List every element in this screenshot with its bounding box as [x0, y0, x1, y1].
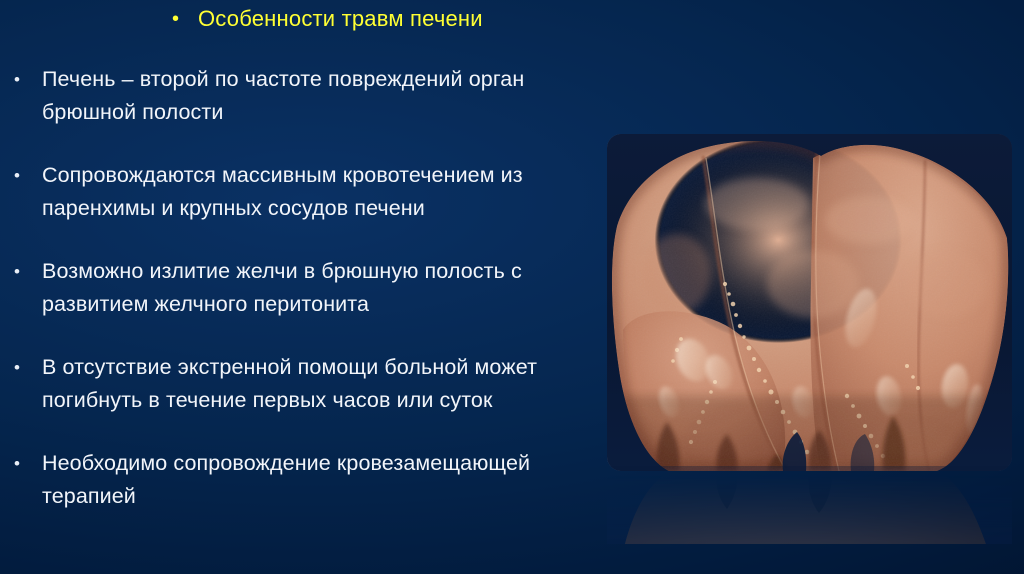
- slide-title: • Особенности травм печени: [168, 4, 483, 34]
- list-item-text: В отсутствие экстренной помощи больной м…: [42, 351, 590, 417]
- reflection-illustration: [607, 472, 1012, 544]
- picture-reflection: [607, 472, 1012, 544]
- title-text: Особенности травм печени: [198, 4, 483, 34]
- liver-illustration: [607, 134, 1012, 471]
- list-item: • Возможно излитие желчи в брюшную полос…: [8, 255, 594, 321]
- list-item-text: Возможно излитие желчи в брюшную полость…: [42, 255, 590, 321]
- bullet-point-icon: •: [8, 63, 42, 96]
- bullet-point-icon: •: [8, 159, 42, 192]
- list-item: • Сопровождаются массивным кровотечением…: [8, 159, 594, 225]
- list-item: • Печень – второй по частоте повреждений…: [8, 63, 594, 129]
- list-item: • Необходимо сопровождение кровезамещающ…: [8, 447, 594, 513]
- list-item-text: Печень – второй по частоте повреждений о…: [42, 63, 590, 129]
- bullet-point-icon: •: [8, 447, 42, 480]
- bullet-point-icon: •: [8, 351, 42, 384]
- slide-canvas: • Особенности травм печени • Печень – вт…: [0, 0, 1024, 574]
- list-item-text: Необходимо сопровождение кровезамещающей…: [42, 447, 590, 513]
- list-item-text: Сопровождаются массивным кровотечением и…: [42, 159, 590, 225]
- title-bullet-icon: •: [168, 4, 198, 34]
- bullet-list: • Печень – второй по частоте повреждений…: [8, 63, 594, 513]
- list-item: • В отсутствие экстренной помощи больной…: [8, 351, 594, 417]
- liver-specimen-photo: [607, 134, 1012, 471]
- bullet-point-icon: •: [8, 255, 42, 288]
